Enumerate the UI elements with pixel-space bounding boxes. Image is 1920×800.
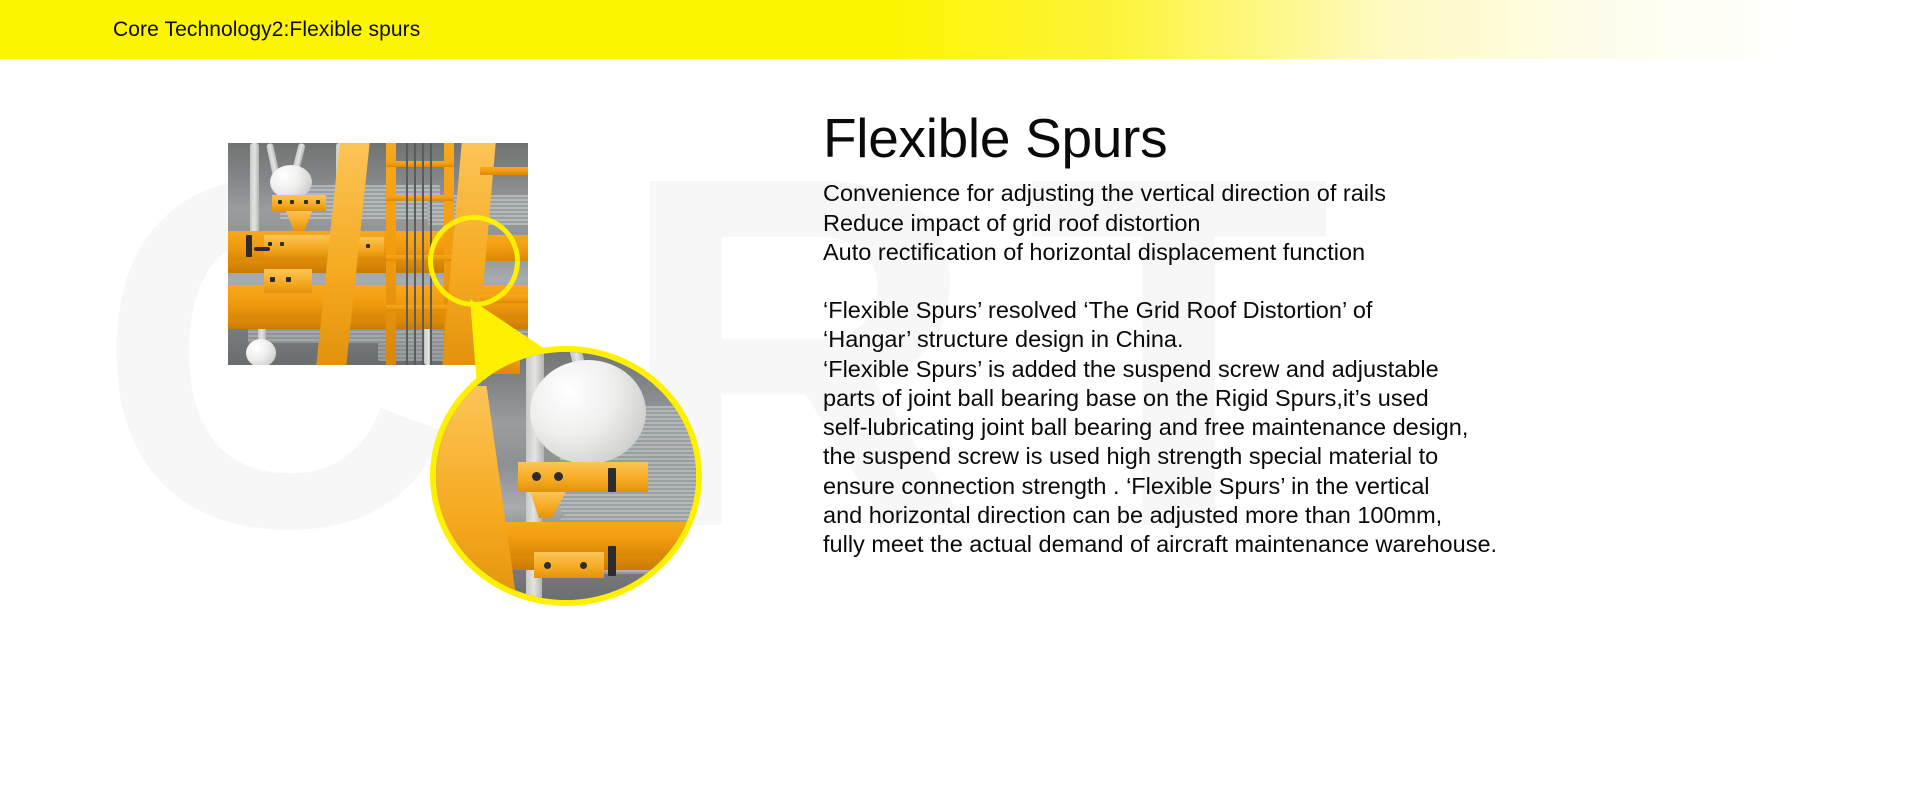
bolt [268,242,272,246]
paragraph-line: fully meet the actual demand of aircraft… [823,530,1423,559]
bolt [532,472,541,481]
paragraph-line: ensure connection strength . ‘Flexible S… [823,472,1423,501]
cable [414,143,416,365]
trolley-box [264,235,330,257]
spur-bracket [286,211,312,231]
joint-ball [270,165,312,199]
zoom-scene [430,346,702,606]
bolt [290,200,294,204]
ladder-rung [386,305,454,311]
bolt [270,277,275,282]
paragraph-line: the suspend screw is used high strength … [823,442,1423,471]
suspend-screw [608,546,616,576]
media-column [0,59,810,800]
page-title: Flexible Spurs [823,107,1167,169]
cable [406,143,408,365]
ladder-rail [386,143,396,365]
bolt [304,200,308,204]
paragraph-line: ‘Hangar’ structure design in China. [823,325,1423,354]
hydraulic-part [246,235,252,257]
cable [422,143,424,365]
crane-girder-shadow [228,319,528,329]
bolt [544,562,551,569]
crane-girder-magnified [500,522,700,556]
ladder-rung [386,195,454,201]
feature-item: Auto rectification of horizontal displac… [823,238,1823,268]
ladder-rung [480,167,528,175]
bolt [580,562,587,569]
paragraph-line: ‘Flexible Spurs’ resolved ‘The Grid Roof… [823,296,1423,325]
bolt [554,472,563,481]
highlight-circle [428,215,520,307]
bolt [278,200,282,204]
bolt [280,242,284,246]
header-banner: Core Technology2:Flexible spurs [0,0,1920,59]
zoom-detail-photo [430,346,702,606]
joint-ball-magnified [530,360,646,464]
paragraph-line: self-lubricating joint ball bearing and … [823,413,1423,442]
bolt [366,244,370,248]
feature-item: Convenience for adjusting the vertical d… [823,179,1823,209]
suspend-screw [608,468,616,492]
support-pipe [250,143,259,239]
bolt [286,277,291,282]
description-paragraph: ‘Flexible Spurs’ resolved ‘The Grid Roof… [823,296,1423,560]
feature-list: Convenience for adjusting the vertical d… [823,179,1823,268]
bolt [316,200,320,204]
joint-ball [246,339,276,365]
ladder-rung [386,161,454,167]
paragraph-line: parts of joint ball bearing base on the … [823,384,1423,413]
feature-item: Reduce impact of grid roof distortion [823,209,1823,239]
banner-title: Core Technology2:Flexible spurs [113,17,420,43]
hydraulic-part [254,247,270,251]
paragraph-line: and horizontal direction can be adjusted… [823,501,1423,530]
paragraph-line: ‘Flexible Spurs’ is added the suspend sc… [823,355,1423,384]
